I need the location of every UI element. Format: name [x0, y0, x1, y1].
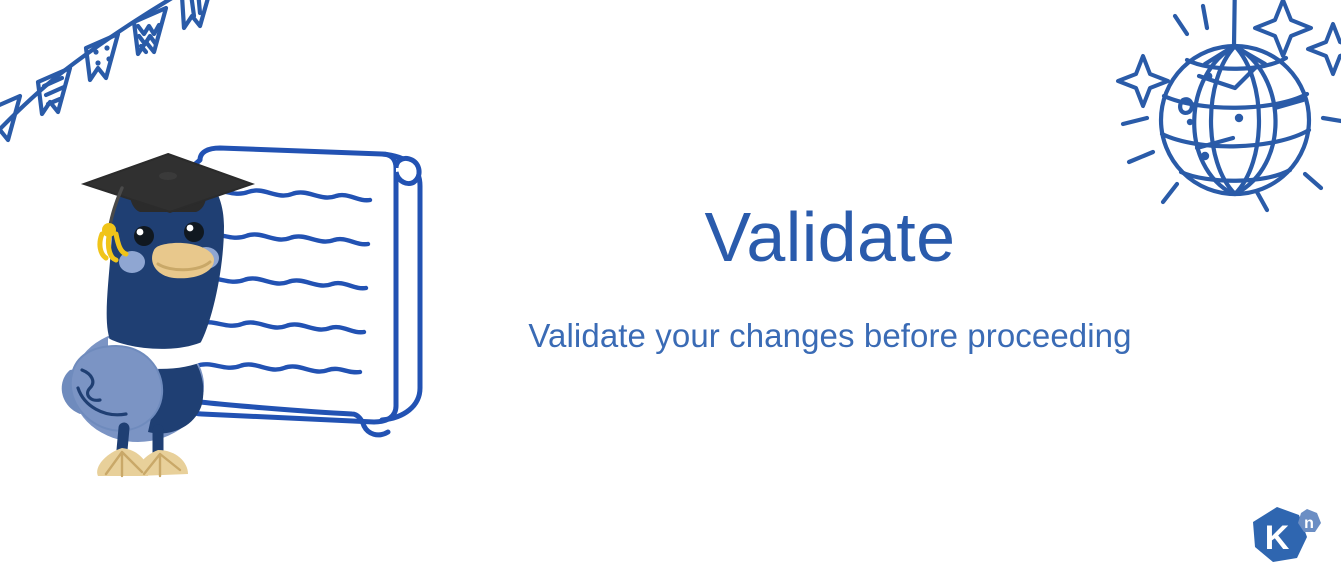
logo-letter-k: K [1265, 519, 1290, 557]
slide-text-block: Validate Validate your changes before pr… [480, 200, 1180, 356]
certificate-scroll-with-graduate-bird-illustration [52, 138, 472, 478]
slide-canvas: Validate Validate your changes before pr… [0, 0, 1341, 585]
logo-letter-n: n [1304, 515, 1314, 532]
page-title: Validate [480, 200, 1180, 274]
page-subtitle: Validate your changes before proceeding [480, 316, 1180, 356]
brand-logo[interactable]: K n [1247, 501, 1323, 573]
disco-ball-icon [1107, 0, 1341, 233]
